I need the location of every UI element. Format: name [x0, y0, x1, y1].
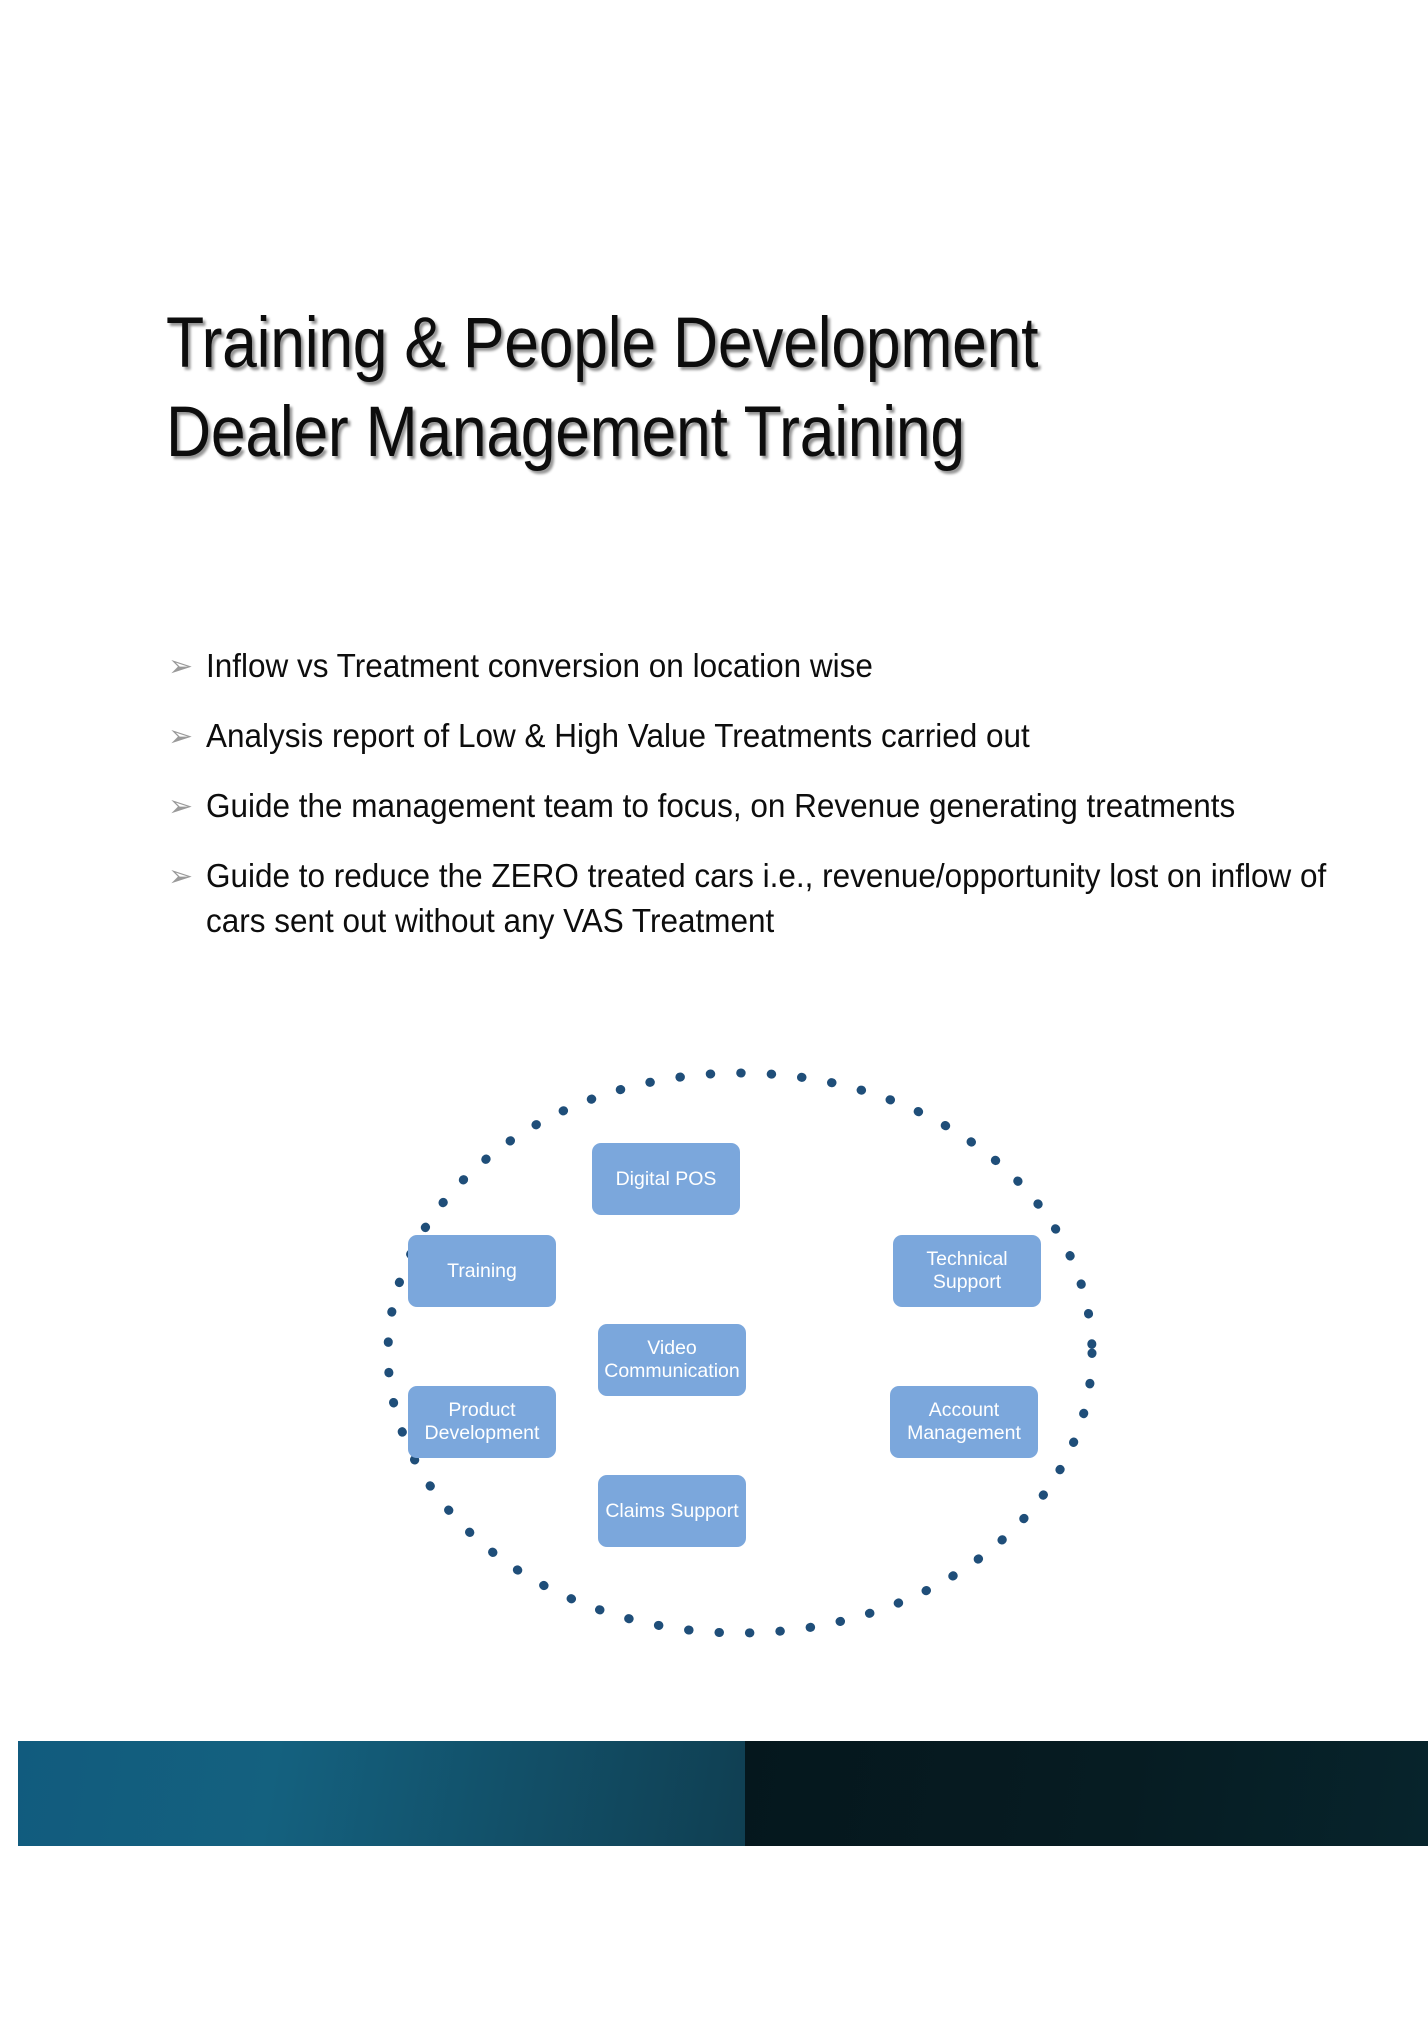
node-label: Account Management	[896, 1399, 1032, 1445]
footer-bar-left-segment	[18, 1741, 745, 1846]
diagram-node-training[interactable]: Training	[408, 1235, 556, 1307]
bullet-text: Inflow vs Treatment conversion on locati…	[206, 645, 1326, 690]
arrowhead-bullet-icon: ➢	[168, 717, 206, 758]
list-item: ➢ Analysis report of Low & High Value Tr…	[168, 715, 1398, 760]
diagram-node-video-communication[interactable]: Video Communication	[598, 1324, 746, 1396]
diagram-node-account-management[interactable]: Account Management	[890, 1386, 1038, 1458]
diagram-node-claims-support[interactable]: Claims Support	[598, 1475, 746, 1547]
bullet-text: Guide to reduce the ZERO treated cars i.…	[206, 855, 1326, 945]
footer-bar-right-segment	[745, 1741, 1428, 1846]
bullet-text: Analysis report of Low & High Value Trea…	[206, 715, 1326, 760]
node-label: Video Communication	[604, 1337, 740, 1383]
node-label: Training	[447, 1260, 517, 1283]
list-item: ➢ Guide the management team to focus, on…	[168, 785, 1398, 830]
node-label: Digital POS	[616, 1168, 717, 1191]
arrowhead-bullet-icon: ➢	[168, 647, 206, 688]
arrowhead-bullet-icon: ➢	[168, 787, 206, 828]
list-item: ➢ Inflow vs Treatment conversion on loca…	[168, 645, 1398, 690]
cluster-diagram: Digital POS Training Technical Support V…	[360, 1055, 1120, 1675]
node-label: Claims Support	[605, 1500, 738, 1523]
arrowhead-bullet-icon: ➢	[168, 857, 206, 898]
diagram-node-product-development[interactable]: Product Development	[408, 1386, 556, 1458]
bullet-list: ➢ Inflow vs Treatment conversion on loca…	[168, 645, 1398, 969]
node-label: Product Development	[414, 1399, 550, 1445]
title-line-1: Training & People Development	[166, 300, 1187, 389]
title-line-2: Dealer Management Training	[166, 389, 1187, 478]
list-item: ➢ Guide to reduce the ZERO treated cars …	[168, 855, 1398, 945]
slide-canvas: Training & People Development Dealer Man…	[0, 0, 1428, 2018]
bullet-text: Guide the management team to focus, on R…	[206, 785, 1326, 830]
footer-bar	[18, 1741, 1428, 1846]
diagram-node-technical-support[interactable]: Technical Support	[893, 1235, 1041, 1307]
diagram-node-digital-pos[interactable]: Digital POS	[592, 1143, 740, 1215]
page-title: Training & People Development Dealer Man…	[166, 300, 1326, 478]
node-label: Technical Support	[899, 1248, 1035, 1294]
